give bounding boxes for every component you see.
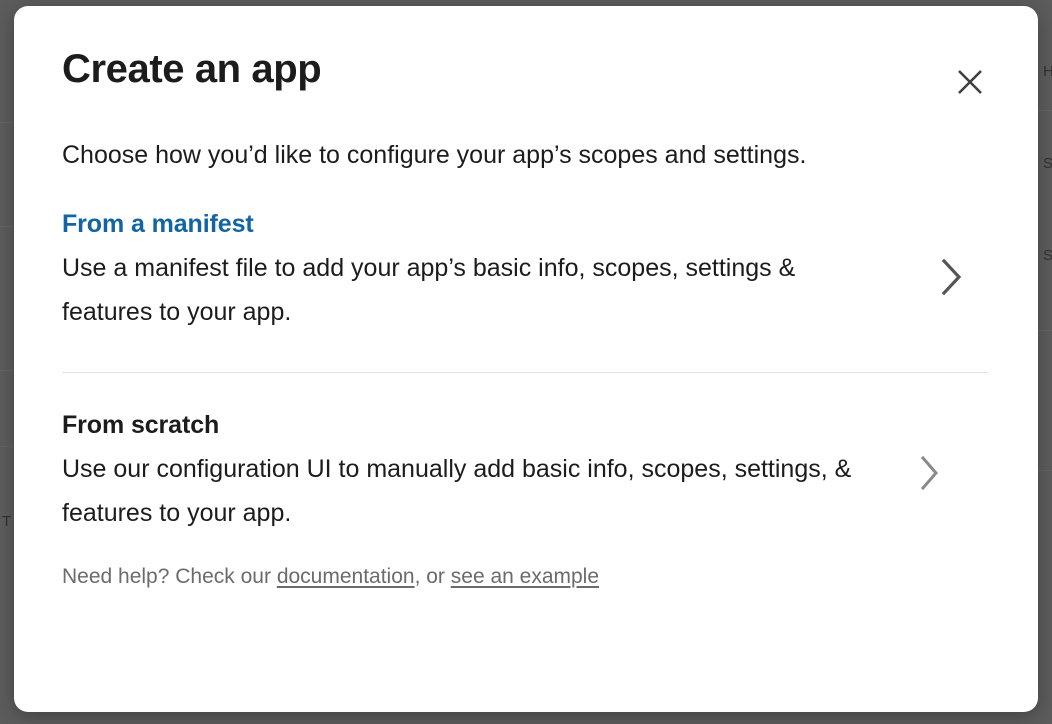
background-text-fragment: S: [1043, 248, 1052, 263]
create-an-app-modal: Create an app Choose how you’d like to c…: [14, 6, 1038, 712]
option-title-from-a-manifest: From a manifest: [62, 210, 254, 238]
background-text-fragment: T: [2, 514, 11, 529]
background-divider: [0, 446, 14, 447]
background-divider: [1038, 110, 1052, 111]
help-footer-lead: Need help? Check our: [62, 565, 277, 588]
close-icon: [954, 66, 986, 98]
chevron-right-icon: [910, 453, 950, 493]
documentation-link[interactable]: documentation: [277, 565, 415, 588]
background-divider: [0, 370, 14, 371]
option-text-block: From a manifest Use a manifest file to a…: [62, 208, 862, 334]
background-text-fragment: S: [1043, 156, 1052, 171]
see-an-example-link[interactable]: see an example: [451, 565, 599, 588]
option-title-from-scratch: From scratch: [62, 411, 219, 439]
modal-description: Choose how you’d like to configure your …: [62, 138, 990, 172]
chevron-right-icon: [932, 256, 972, 298]
option-description-from-scratch: Use our configuration UI to manually add…: [62, 447, 862, 535]
option-description-from-a-manifest: Use a manifest file to add your app’s ba…: [62, 246, 862, 334]
page-title: Create an app: [62, 46, 990, 92]
background-divider: [0, 226, 14, 227]
background-divider: [1038, 330, 1052, 331]
background-divider: [0, 122, 14, 123]
background-divider: [1038, 470, 1052, 471]
background-text-fragment: H: [1043, 64, 1052, 79]
options-divider: [62, 372, 988, 373]
help-footer-middle: , or: [415, 565, 451, 588]
modal-header: Create an app: [62, 46, 990, 112]
option-from-scratch[interactable]: From scratch Use our configuration UI to…: [62, 409, 990, 535]
help-footer: Need help? Check our documentation, or s…: [62, 563, 990, 591]
close-button[interactable]: [948, 60, 992, 104]
option-text-block: From scratch Use our configuration UI to…: [62, 409, 862, 535]
app-creation-options: From a manifest Use a manifest file to a…: [62, 208, 990, 535]
option-from-a-manifest[interactable]: From a manifest Use a manifest file to a…: [62, 208, 990, 334]
